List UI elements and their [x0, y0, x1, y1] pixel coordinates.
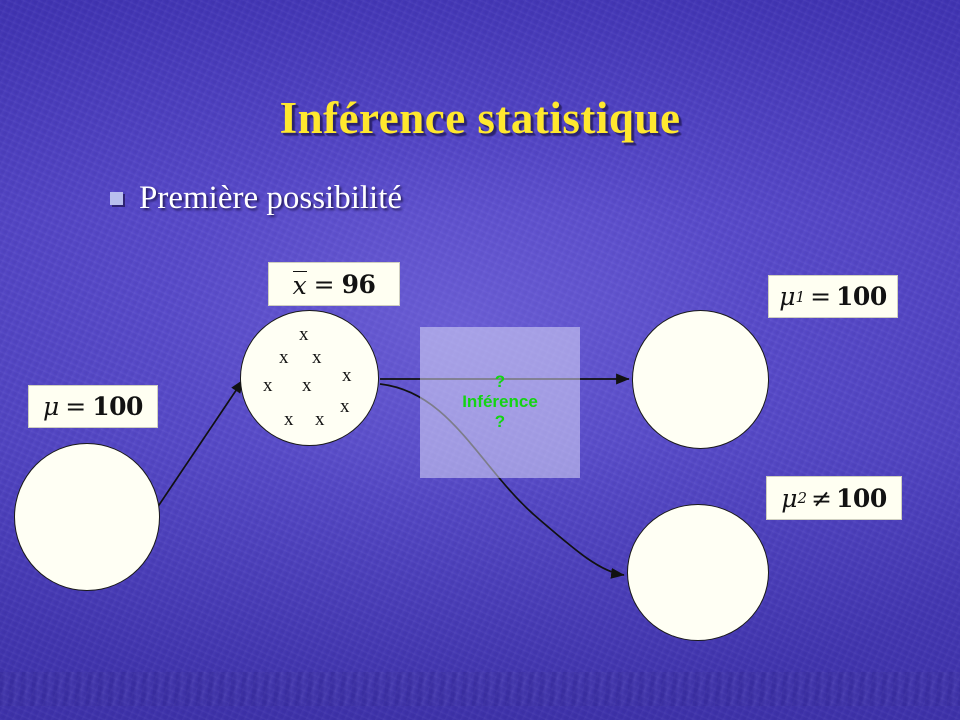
square-bullet-icon [110, 192, 123, 205]
hypothesis-1-circle [632, 310, 769, 449]
page-title: Inférence statistique [0, 92, 960, 144]
hypothesis-1-subscript: 1 [796, 288, 806, 306]
hypothesis-2-circle [627, 504, 769, 641]
sample-mean-value: 96 [342, 270, 376, 299]
population-mean-value: 100 [92, 392, 143, 421]
sample-point: x [315, 410, 325, 429]
hypothesis-1-value: 100 [836, 282, 887, 311]
sample-point: x [340, 397, 350, 416]
hypothesis-2-relation: ≠ [811, 484, 832, 513]
sample-point: x [312, 348, 322, 367]
population-mean-symbol: μ [43, 392, 59, 421]
sample-point: x [299, 325, 309, 344]
bullet-item: Première possibilité [110, 180, 402, 217]
inference-label: Inférence [462, 392, 538, 411]
sample-point: x [263, 376, 273, 395]
sample-point: x [279, 348, 289, 367]
sample-circle: x x x x x x x x x [240, 310, 379, 446]
population-circle [14, 443, 160, 591]
background-texture-band [0, 672, 960, 706]
inference-label-group: ? Inférence ? [420, 372, 580, 432]
hypothesis-1-relation: = [810, 282, 831, 311]
hypothesis-2-formula: μ2 ≠ 100 [766, 476, 902, 520]
hypothesis-2-value: 100 [836, 484, 887, 513]
inference-question-bottom: ? [420, 412, 580, 432]
hypothesis-1-symbol: μ [779, 282, 795, 311]
sample-point: x [284, 410, 294, 429]
population-mean-formula: μ = 100 [28, 385, 158, 428]
sample-mean-formula: x = 96 [268, 262, 400, 306]
hypothesis-2-symbol: μ [781, 484, 797, 513]
sample-point: x [342, 366, 352, 385]
sample-point: x [302, 376, 312, 395]
population-mean-relation: = [65, 392, 86, 421]
slide-canvas: Inférence statistique Première possibili… [0, 0, 960, 720]
hypothesis-2-subscript: 2 [798, 489, 808, 507]
inference-question-top: ? [420, 372, 580, 392]
sample-mean-symbol: x [293, 271, 307, 298]
hypothesis-1-formula: μ1 = 100 [768, 275, 898, 318]
sample-mean-relation: = [314, 270, 335, 299]
bullet-item-label: Première possibilité [139, 180, 402, 217]
